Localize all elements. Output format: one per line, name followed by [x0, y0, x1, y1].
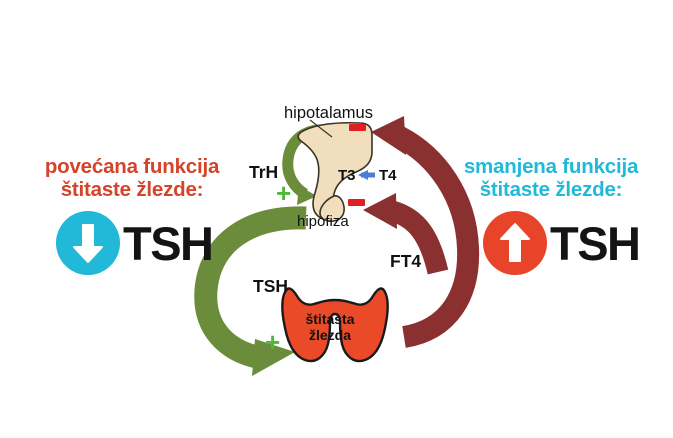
tsh-decreased-readout: TSH [56, 211, 213, 275]
diagram-canvas: povećana funkcija štitaste žlezde: smanj… [0, 0, 673, 438]
plus-sign-tsh: + [265, 329, 280, 355]
tsh-label-left: TSH [123, 220, 213, 267]
pituitary-label: hipofiza [297, 214, 349, 229]
decreased-function-caption: smanjena funkcija štitaste žlezde: [444, 155, 658, 202]
thyroid-gland-line1: štitasta [293, 312, 367, 328]
thyroid-gland-label: štitasta žlezda [293, 312, 367, 343]
tsh-label-right: TSH [550, 220, 640, 267]
plus-sign-trh: + [276, 180, 291, 206]
decreased-function-line2: štitaste žlezde: [444, 178, 658, 201]
decreased-function-line1: smanjena funkcija [444, 155, 658, 178]
minus-sign-hypothalamus [349, 124, 366, 131]
t3-label: T3 [338, 168, 356, 183]
trh-label: TrH [249, 164, 278, 182]
increased-function-line2: štitaste žlezde: [24, 178, 240, 201]
tsh-pathway-label: TSH [253, 278, 288, 296]
minus-sign-pituitary [348, 199, 365, 206]
arrow-down-icon [56, 211, 120, 275]
increased-function-line1: povećana funkcija [24, 155, 240, 178]
increased-function-caption: povećana funkcija štitaste žlezde: [24, 155, 240, 202]
hypothalamus-label: hipotalamus [284, 105, 373, 122]
arrow-up-icon [483, 211, 547, 275]
t4-to-t3-conversion-arrow [358, 170, 375, 180]
hypothalamus-pituitary-anatomy [298, 120, 372, 221]
t4-label: T4 [379, 168, 397, 183]
thyroid-gland-line2: žlezda [293, 328, 367, 344]
tsh-increased-readout: TSH [483, 211, 640, 275]
ft4-label: FT4 [390, 253, 421, 271]
